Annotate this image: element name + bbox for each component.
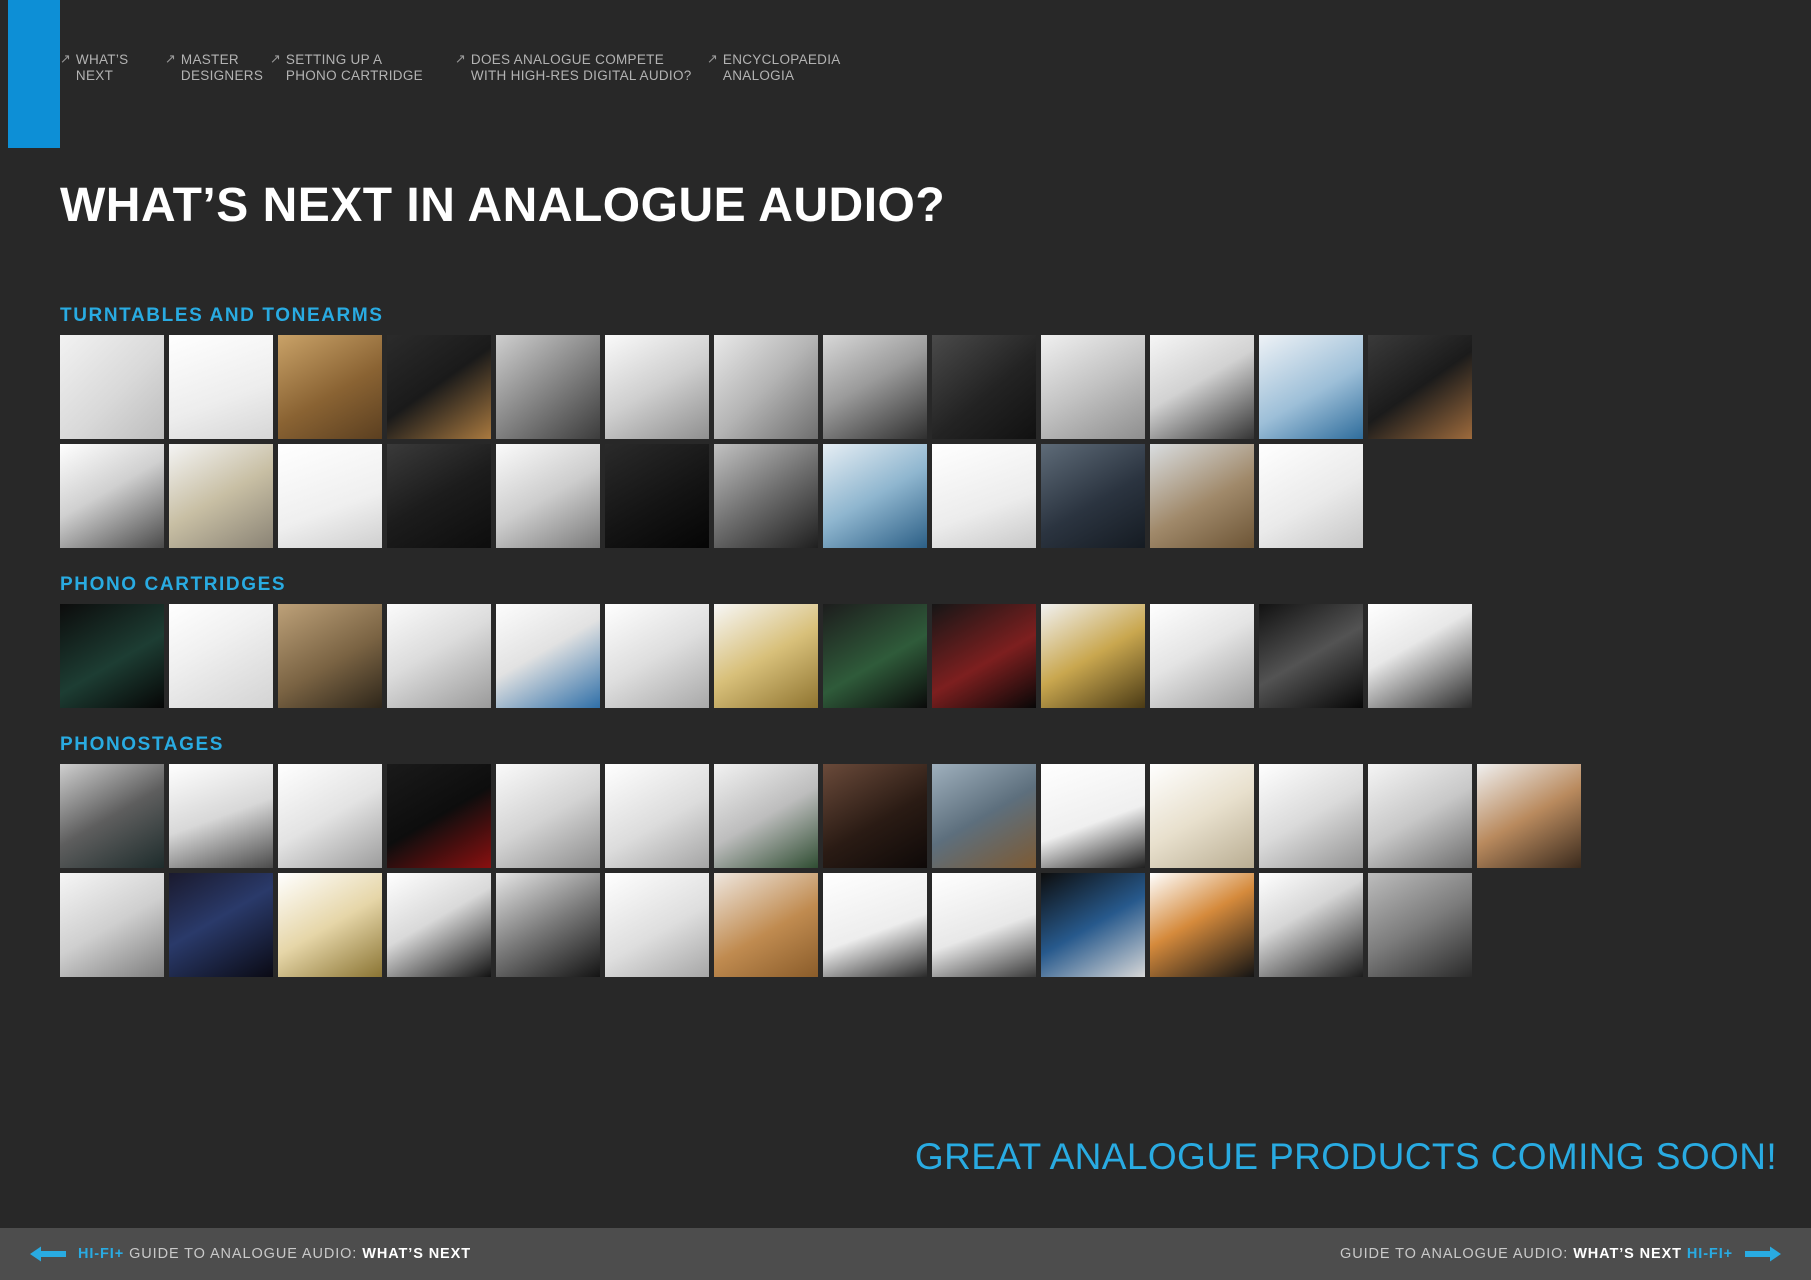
thumbnail-image [169, 764, 273, 868]
thumbnail-image [278, 764, 382, 868]
thumbnail-image [496, 604, 600, 708]
nav-item-4[interactable]: ↖ENCYCLOPAEDIA ANALOGIA [707, 52, 887, 84]
thumbnail-phonostage-slim-black[interactable] [1041, 764, 1145, 868]
thumbnail-row [60, 604, 1490, 708]
footer-right-middle: GUIDE TO ANALOGUE AUDIO: [1340, 1246, 1568, 1262]
thumbnail-phonostage-dual-silver-towers[interactable] [1368, 873, 1472, 977]
thumbnail-phonostage-black-front-panel[interactable] [1259, 873, 1363, 977]
thumbnail-image [387, 604, 491, 708]
thumbnail-phonostage-black-wedge[interactable] [387, 873, 491, 977]
thumbnail-image [1041, 444, 1145, 548]
thumbnail-row [60, 764, 1490, 868]
thumbnail-phonostage-silver-slab[interactable] [605, 873, 709, 977]
thumbnail-turntable-pillar-tower[interactable] [1041, 444, 1145, 548]
thumbnail-image [496, 444, 600, 548]
thumbnail-image [60, 604, 164, 708]
thumbnail-image [496, 764, 600, 868]
thumbnail-image [1259, 444, 1363, 548]
nav-item-label: DOES ANALOGUE COMPETE WITH HIGH-RES DIGI… [471, 52, 692, 84]
thumbnail-turntable-spindle-closeup[interactable] [823, 335, 927, 439]
thumbnail-image [605, 335, 709, 439]
thumbnail-cartridge-silver-label[interactable] [1150, 604, 1254, 708]
thumbnail-image [932, 873, 1036, 977]
nav-arrow-icon: ↖ [455, 52, 466, 66]
thumbnail-image [823, 335, 927, 439]
footer-bar: HI-FI+ GUIDE TO ANALOGUE AUDIO: WHAT’S N… [0, 1228, 1811, 1280]
thumbnail-image [823, 764, 927, 868]
thumbnail-image [169, 604, 273, 708]
thumbnail-turntable-dark-chassis[interactable] [496, 335, 600, 439]
thumbnail-tonearm-black-wand[interactable] [278, 444, 382, 548]
section-0: TURNTABLES AND TONEARMS [60, 305, 1490, 548]
thumbnail-image [1041, 604, 1145, 708]
thumbnail-phonostage-tube-grille[interactable] [823, 764, 927, 868]
thumbnail-image [714, 873, 818, 977]
thumbnail-image [278, 444, 382, 548]
thumbnail-image [823, 444, 927, 548]
thumbnail-image [605, 444, 709, 548]
thumbnail-phonostage-wood-top[interactable] [714, 873, 818, 977]
thumbnail-turntable-skeletal-chassis[interactable] [714, 444, 818, 548]
thumbnail-turntable-dark-deck[interactable] [932, 335, 1036, 439]
thumbnail-phonostage-small-black-box[interactable] [823, 873, 927, 977]
thumbnail-phonostage-grey-box[interactable] [605, 764, 709, 868]
thumbnail-turntable-copper-rails[interactable] [1368, 335, 1472, 439]
thumbnail-tonearm-long-black[interactable] [932, 444, 1036, 548]
thumbnail-image [60, 444, 164, 548]
thumbnail-cartridge-green-glow[interactable] [60, 604, 164, 708]
thumbnail-image [605, 873, 709, 977]
nav-arrow-icon: ↖ [60, 52, 71, 66]
nav-item-label: SETTING UP A PHONO CARTRIDGE [286, 52, 423, 84]
thumbnail-image [1259, 873, 1363, 977]
thumbnail-image [932, 335, 1036, 439]
thumbnail-image [278, 604, 382, 708]
nav-item-1[interactable]: ↖MASTER DESIGNERS [165, 52, 270, 84]
thumbnail-phonostage-blue-silver-front[interactable] [1041, 873, 1145, 977]
thumbnail-cartridge-red-body[interactable] [169, 604, 273, 708]
thumbnail-cartridge-black-angled[interactable] [387, 604, 491, 708]
thumbnail-turntable-blue-logo-plinth[interactable] [823, 444, 927, 548]
left-arrow-icon[interactable] [30, 1245, 66, 1263]
thumbnail-turntable-silver-frame[interactable] [1041, 335, 1145, 439]
thumbnail-image [932, 604, 1036, 708]
page-title: WHAT’S NEXT IN ANALOGUE AUDIO? [60, 177, 945, 235]
thumbnail-image [932, 764, 1036, 868]
thumbnail-turntable-black-oval[interactable] [1150, 335, 1254, 439]
thumbnail-turntable-on-wood-rack[interactable] [1150, 444, 1254, 548]
thumbnail-phonostage-red-panel[interactable] [387, 764, 491, 868]
thumbnail-phonostage-silver-rack[interactable] [278, 764, 382, 868]
thumbnail-row [60, 873, 1490, 977]
thumbnail-turntable-subchassis-plate[interactable] [60, 444, 164, 548]
thumbnail-image [1150, 335, 1254, 439]
thumbnail-tonearm-silver-on-white[interactable] [169, 335, 273, 439]
thumbnail-phonostage-three-tier-silver[interactable] [496, 764, 600, 868]
thumbnail-phonostage-brushed-bar[interactable] [496, 873, 600, 977]
section-heading: TURNTABLES AND TONEARMS [60, 305, 1490, 327]
footer-right-link[interactable]: GUIDE TO ANALOGUE AUDIO: WHAT’S NEXT HI-… [1340, 1228, 1781, 1280]
section-1: PHONO CARTRIDGES [60, 574, 1490, 708]
thumbnail-phonostage-knob-silver[interactable] [1259, 764, 1363, 868]
thumbnail-phonostage-silver-on-dark[interactable] [60, 764, 164, 868]
thumbnail-cartridge-metal-reflection[interactable] [1259, 604, 1363, 708]
thumbnail-image [387, 444, 491, 548]
thumbnail-image [387, 873, 491, 977]
thumbnail-image [60, 764, 164, 868]
thumbnail-image [278, 873, 382, 977]
thumbnail-cartridge-green-gold[interactable] [823, 604, 927, 708]
top-navigation: ↖WHAT’S NEXT↖MASTER DESIGNERS↖SETTING UP… [60, 52, 887, 92]
thumbnail-image [823, 604, 927, 708]
thumbnail-image [496, 335, 600, 439]
thumbnail-image [1259, 764, 1363, 868]
thumbnail-image [823, 873, 927, 977]
nav-arrow-icon: ↖ [165, 52, 176, 66]
thumbnail-turntable-round-platter[interactable] [605, 335, 709, 439]
thumbnail-turntable-black-plinth[interactable] [60, 335, 164, 439]
thumbnail-turntable-layered-plinth[interactable] [714, 335, 818, 439]
thumbnail-image [496, 873, 600, 977]
thumbnail-phonostage-wedge-grey[interactable] [169, 764, 273, 868]
thumbnail-phonostage-green-display[interactable] [714, 764, 818, 868]
nav-item-3[interactable]: ↖DOES ANALOGUE COMPETE WITH HIGH-RES DIG… [455, 52, 707, 84]
footer-left-link[interactable]: HI-FI+ GUIDE TO ANALOGUE AUDIO: WHAT’S N… [30, 1228, 471, 1280]
thumbnail-image [605, 764, 709, 868]
thumbnail-image [169, 873, 273, 977]
blue-accent-tab [8, 0, 60, 148]
section-2: PHONOSTAGES [60, 734, 1490, 977]
thumbnail-image [1368, 335, 1472, 439]
thumbnail-image [1477, 764, 1581, 868]
nav-item-label: MASTER DESIGNERS [181, 52, 263, 84]
thumbnail-image [387, 335, 491, 439]
thumbnail-image [169, 335, 273, 439]
thumbnail-image [1041, 873, 1145, 977]
thumbnail-tonearm-white-sculpture[interactable] [1259, 444, 1363, 548]
thumbnail-image [605, 604, 709, 708]
thumbnail-cartridge-blue-body[interactable] [496, 604, 600, 708]
thumbnail-phonostage-gold-face[interactable] [278, 873, 382, 977]
thumbnail-phonostage-orange-wood-black[interactable] [1150, 873, 1254, 977]
section-heading: PHONOSTAGES [60, 734, 1490, 756]
thumbnail-image [1368, 604, 1472, 708]
nav-item-label: ENCYCLOPAEDIA ANALOGIA [723, 52, 841, 84]
thumbnail-turntable-top-view-black[interactable] [387, 444, 491, 548]
thumbnail-image [1259, 604, 1363, 708]
thumbnail-image [1150, 873, 1254, 977]
thumbnail-turntable-wood-platter[interactable] [278, 335, 382, 439]
right-arrow-icon[interactable] [1745, 1245, 1781, 1263]
thumbnail-cartridge-red-silver[interactable] [932, 604, 1036, 708]
nav-arrow-icon: ↖ [270, 52, 281, 66]
thumbnail-cartridge-one-yellow[interactable] [1368, 604, 1472, 708]
thumbnail-image [714, 764, 818, 868]
thumbnail-cartridge-gold-body[interactable] [714, 604, 818, 708]
thumbnail-image [1259, 335, 1363, 439]
footer-left-middle: GUIDE TO ANALOGUE AUDIO: [129, 1246, 357, 1262]
thumbnail-image [1041, 764, 1145, 868]
thumbnail-phonostage-white-rca[interactable] [60, 873, 164, 977]
thumbnail-row [60, 335, 1490, 439]
section-heading: PHONO CARTRIDGES [60, 574, 1490, 596]
footer-left-strong: WHAT’S NEXT [362, 1246, 471, 1262]
thumbnail-turntable-blue-platter[interactable] [1259, 335, 1363, 439]
thumbnail-image [60, 335, 164, 439]
thumbnail-square-wood-frame[interactable] [387, 335, 491, 439]
thumbnail-image [1368, 764, 1472, 868]
thumbnail-image [932, 444, 1036, 548]
thumbnail-image [1368, 873, 1472, 977]
thumbnail-phonostage-tube-copper-pair[interactable] [1477, 764, 1581, 868]
thumbnail-phonostage-cream-vintage[interactable] [1150, 764, 1254, 868]
thumbnail-image [714, 444, 818, 548]
thumbnail-image [1150, 444, 1254, 548]
thumbnail-image [714, 604, 818, 708]
thumbnail-image [1041, 335, 1145, 439]
nav-item-2[interactable]: ↖SETTING UP A PHONO CARTRIDGE [270, 52, 455, 84]
nav-item-label: WHAT’S NEXT [76, 52, 129, 84]
thumbnail-turntable-white-base[interactable] [496, 444, 600, 548]
footer-right-strong: WHAT’S NEXT [1573, 1246, 1682, 1262]
thumbnail-image [278, 335, 382, 439]
thumbnail-cartridge-headshell-silver[interactable] [605, 604, 709, 708]
thumbnail-phonostage-dual-mono-grey[interactable] [1368, 764, 1472, 868]
product-sections: TURNTABLES AND TONEARMSPHONO CARTRIDGESP… [60, 305, 1490, 1003]
thumbnail-image [1150, 764, 1254, 868]
footer-left-brand: HI-FI+ [78, 1246, 124, 1262]
thumbnail-cartridge-on-platter[interactable] [278, 604, 382, 708]
thumbnail-row [60, 444, 1490, 548]
nav-item-0[interactable]: ↖WHAT’S NEXT [60, 52, 165, 84]
thumbnail-cartridge-brass-shell[interactable] [1041, 604, 1145, 708]
thumbnail-image [1150, 604, 1254, 708]
thumbnail-image [714, 335, 818, 439]
thumbnail-tonearm-bearing-assembly[interactable] [169, 444, 273, 548]
thumbnail-turntable-black-round-mat[interactable] [605, 444, 709, 548]
thumbnail-image [387, 764, 491, 868]
tagline: GREAT ANALOGUE PRODUCTS COMING SOON! [915, 1135, 1777, 1179]
thumbnail-phonostage-flat-dark-slab[interactable] [932, 873, 1036, 977]
thumbnail-image [169, 444, 273, 548]
nav-arrow-icon: ↖ [707, 52, 718, 66]
thumbnail-image [60, 873, 164, 977]
footer-right-brand: HI-FI+ [1687, 1246, 1733, 1262]
thumbnail-phonostage-blue-chassis-wood[interactable] [932, 764, 1036, 868]
thumbnail-phonostage-blue-led[interactable] [169, 873, 273, 977]
